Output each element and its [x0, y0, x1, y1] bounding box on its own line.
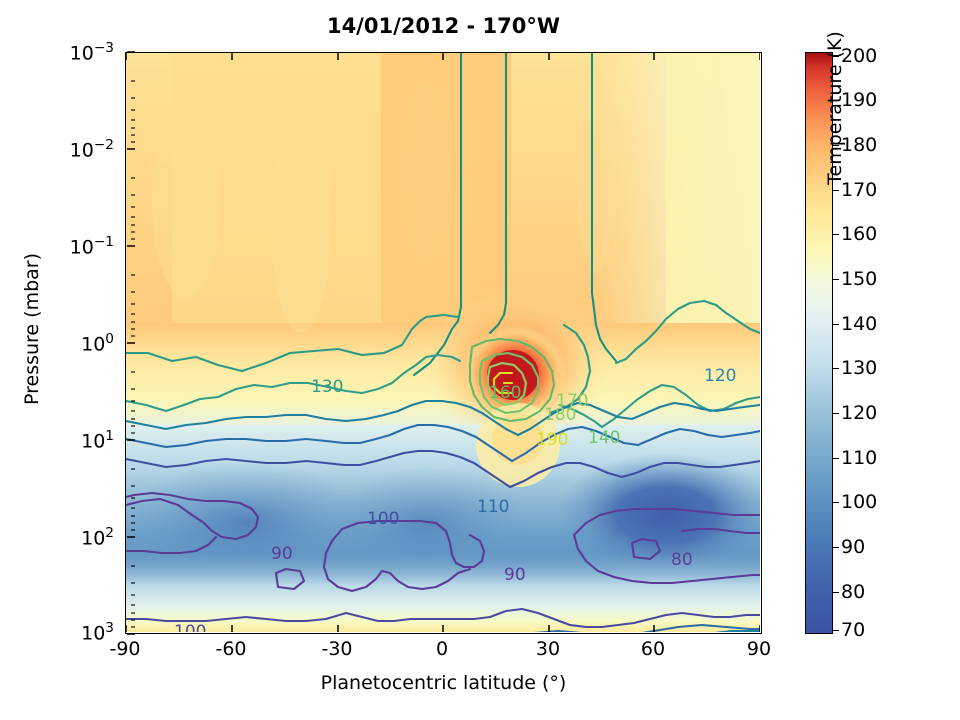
xtick-3: 0	[402, 638, 482, 660]
cbar-tick-9: 110	[841, 447, 877, 469]
xtick-1: -60	[191, 638, 271, 660]
cbar-tickmark-80	[833, 592, 839, 593]
xtick-4: 30	[508, 638, 588, 660]
contour-plot-svg: 130 160 180 170 190 140 120 110 100 90 9…	[126, 53, 760, 632]
label-160: 160	[489, 383, 521, 403]
cbar-tick-10: 100	[841, 491, 877, 513]
label-90-south: 90	[271, 544, 293, 564]
xtick-2: -30	[297, 638, 377, 660]
cbar-tickmark-70	[833, 630, 839, 631]
cbar-tick-11: 90	[841, 536, 865, 558]
cbar-tick-3: 170	[841, 179, 877, 201]
label-110-mid: 110	[477, 497, 509, 517]
cbar-tickmark-100	[833, 502, 839, 503]
page-title: 14/01/2012 - 170°W	[125, 14, 762, 38]
filled-temperature-field	[126, 53, 760, 632]
cbar-tick-13: 70	[841, 619, 865, 641]
plot-area[interactable]: 130 160 180 170 190 140 120 110 100 90 9…	[125, 52, 762, 634]
cbar-tick-6: 140	[841, 313, 877, 335]
label-100-mid: 100	[367, 509, 399, 529]
cbar-tick-4: 160	[841, 223, 877, 245]
xtick-5: 60	[613, 638, 693, 660]
label-gaps	[307, 378, 351, 396]
xtick-0: -90	[85, 638, 165, 660]
cbar-tick-1: 190	[841, 89, 877, 111]
label-140: 140	[588, 428, 620, 448]
label-80: 80	[671, 550, 693, 570]
cbar-tick-2: 180	[841, 134, 877, 156]
cbar-tick-7: 130	[841, 357, 877, 379]
cbar-tickmark-110	[833, 458, 839, 459]
x-axis-label: Planetocentric latitude (°)	[125, 672, 762, 694]
colorbar-label: Temperature (K)	[824, 0, 846, 343]
cbar-tickmark-90	[833, 547, 839, 548]
contour-figure: 14/01/2012 - 170°W	[0, 0, 960, 720]
label-100-lower: 100	[174, 622, 206, 632]
cbar-tick-12: 80	[841, 581, 865, 603]
label-170: 170	[556, 391, 588, 411]
label-120-right: 120	[704, 366, 736, 386]
cbar-tickmark-120	[833, 413, 839, 414]
y-tick-marks	[117, 46, 135, 646]
cbar-tick-0: 200	[841, 45, 877, 67]
cbar-tick-5: 150	[841, 268, 877, 290]
cbar-tickmark-130	[833, 368, 839, 369]
label-190: 190	[536, 430, 568, 450]
label-90-mid: 90	[504, 565, 526, 585]
y-axis-label: Pressure (mbar)	[21, 49, 43, 609]
cbar-tick-8: 120	[841, 402, 877, 424]
xtick-6: 90	[719, 638, 799, 660]
